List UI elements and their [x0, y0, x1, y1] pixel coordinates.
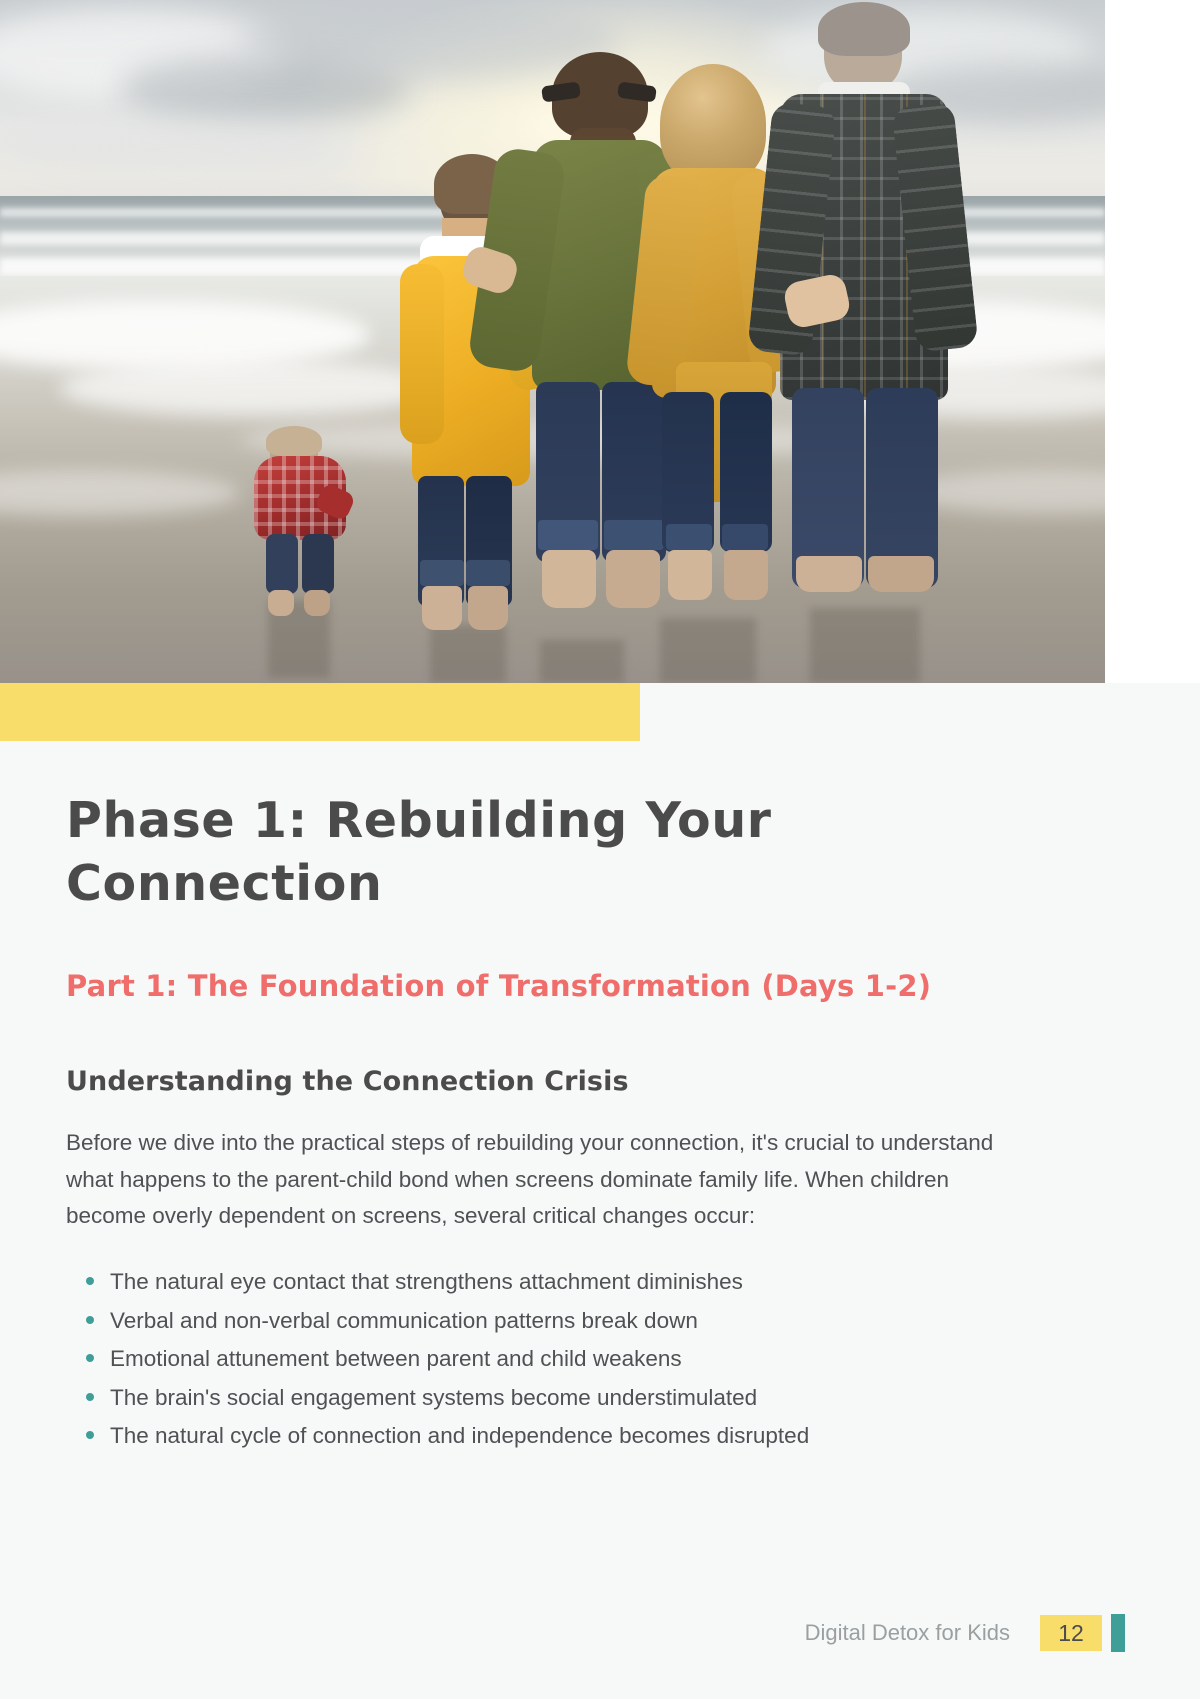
person-father-plaid-flannel	[762, 8, 962, 638]
footer-accent-bar	[1111, 1614, 1125, 1652]
content-area: Phase 1: Rebuilding Your Connection Part…	[66, 790, 1032, 1457]
list-item-label: Verbal and non-verbal communication patt…	[110, 1308, 698, 1333]
bullet-dot-icon	[86, 1316, 94, 1324]
bullet-dot-icon	[86, 1277, 94, 1285]
document-page: Phase 1: Rebuilding Your Connection Part…	[0, 0, 1200, 1699]
list-item: The natural cycle of connection and inde…	[66, 1418, 1032, 1454]
sea-foam	[60, 360, 440, 416]
bullet-list: The natural eye contact that strengthens…	[66, 1264, 1032, 1454]
list-item: Emotional attunement between parent and …	[66, 1341, 1032, 1377]
section-heading: Understanding the Connection Crisis	[66, 1064, 1032, 1099]
body-paragraph: Before we dive into the practical steps …	[66, 1125, 1032, 1234]
hero-right-margin	[1105, 0, 1200, 683]
list-item: The brain's social engagement systems be…	[66, 1380, 1032, 1416]
list-item: The natural eye contact that strengthens…	[66, 1264, 1032, 1300]
cloud	[0, 120, 360, 180]
page-title: Phase 1: Rebuilding Your Connection	[66, 790, 1032, 915]
list-item-label: The natural cycle of connection and inde…	[110, 1423, 809, 1448]
list-item-label: The brain's social engagement systems be…	[110, 1385, 757, 1410]
page-number-badge: 12	[1040, 1615, 1102, 1651]
bullet-dot-icon	[86, 1354, 94, 1362]
list-item-label: Emotional attunement between parent and …	[110, 1346, 682, 1371]
person-child-crouching	[248, 430, 358, 620]
yellow-accent-bar	[0, 683, 640, 741]
list-item: Verbal and non-verbal communication patt…	[66, 1303, 1032, 1339]
page-subtitle: Part 1: The Foundation of Transformation…	[66, 967, 1032, 1006]
bullet-dot-icon	[86, 1393, 94, 1401]
page-footer: Digital Detox for Kids 12	[0, 1607, 1200, 1659]
bullet-dot-icon	[86, 1431, 94, 1439]
list-item-label: The natural eye contact that strengthens…	[110, 1269, 743, 1294]
hero-image	[0, 0, 1105, 683]
footer-book-title: Digital Detox for Kids	[805, 1620, 1010, 1646]
